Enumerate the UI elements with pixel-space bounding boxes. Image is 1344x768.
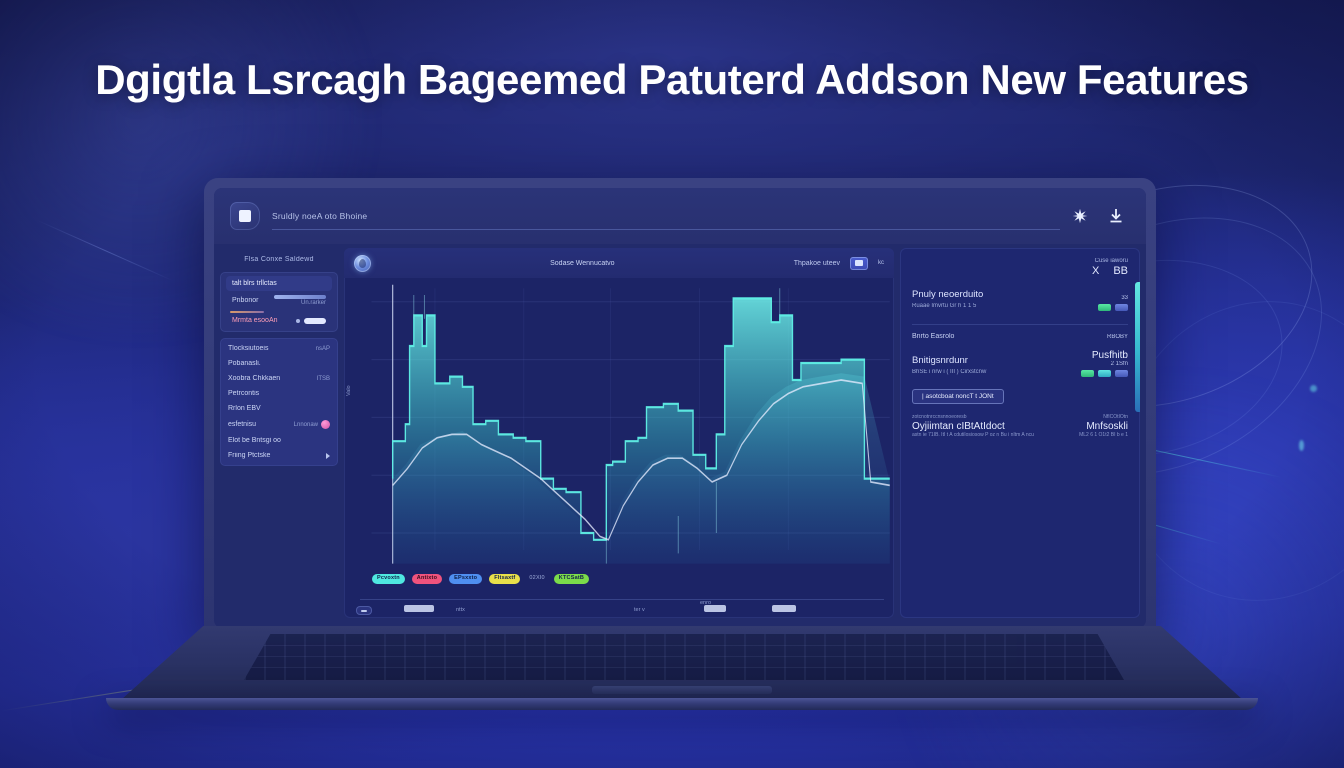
- legend-item-3[interactable]: Fltsaxtf: [489, 574, 520, 585]
- legend-item-1[interactable]: Antixto: [412, 574, 442, 585]
- right-panel-section-2: Bnitigsnrdunr BhSE i nrw i ( III ) Cirxs…: [912, 350, 1128, 377]
- sidebar-item-label: Tlocksiutoeis: [228, 345, 268, 352]
- address-bar[interactable]: Sruldly noeA oto Bhoine: [272, 203, 1060, 230]
- footer-right-lines: ML2 6 1 O1t2 BI b e 1: [1079, 432, 1128, 440]
- x-axis-tick-2: [772, 605, 796, 612]
- app-body: Flsa Conxe Saldewd talt blrs trllctas Pn…: [214, 244, 1146, 628]
- sidebar-item-label: Mrmta esooAn: [232, 317, 278, 324]
- footer-lines: astn ie 71IB. ItI t A cdutiIosiosow P oz…: [912, 432, 1034, 440]
- brand-circle-icon: [354, 255, 371, 272]
- chart-subtitle: Thpakoe uteev: [794, 260, 840, 267]
- sidebar-item-8[interactable]: esfetnisu Lnnonaw: [222, 416, 336, 433]
- sidebar-item-label: Friing Ptctske: [228, 452, 270, 459]
- footer-right-label: NfICOtIOtn: [1079, 414, 1128, 422]
- section-heading: Bnitigsnrdunr: [912, 355, 986, 366]
- page-title: Dgigtla Lsrcagh Bageemed Patuterd Addson…: [0, 56, 1344, 104]
- section-heading: Pnuly neoerduito: [912, 289, 983, 300]
- footer-right-value: Mnfsoskli: [1079, 421, 1128, 432]
- toolbar-icons: [1072, 208, 1130, 224]
- sidebar-item-tag: nsAP: [316, 346, 330, 352]
- grid-icon[interactable]: BB: [1113, 266, 1128, 277]
- sidebar-item-6[interactable]: Petrcontis: [222, 386, 336, 401]
- laptop-keyboard[interactable]: [244, 634, 1124, 680]
- right-panel-icons: X BB: [912, 266, 1128, 277]
- sidebar-card-list: Tlocksiutoeis nsAP Pobanasli. Xoobra Chk…: [220, 338, 338, 466]
- section-value: 33: [1098, 295, 1128, 301]
- chart-panel: Sodase Wennucatvo Thpakoe uteev kc: [344, 248, 894, 618]
- laptop-screen: Sruldly noeA oto Bhoine: [214, 188, 1146, 628]
- sidebar-item-tag: Un.rarker: [301, 300, 326, 306]
- sidebar-item-tag: ITSB: [317, 376, 330, 382]
- section-subtext: Ruaae Imvrtu Gr h 1 1 5: [912, 302, 983, 311]
- sidebar-item-label: talt blrs trllctas: [232, 280, 277, 287]
- status-chip-green: [1098, 304, 1111, 311]
- legend-item-2[interactable]: EPsxxto: [449, 574, 482, 585]
- right-panel-section-0: Pnuly neoerduito Ruaae Imvrtu Gr h 1 1 5…: [912, 289, 1128, 311]
- footer-overline: zotcnotnrccnsnnoeoresb: [912, 414, 1034, 422]
- keyboard-keys: [244, 634, 1124, 680]
- chart-legend: Pcvoxtn Antixto EPsxxto Fltsaxtf 02XI0 K…: [372, 574, 589, 585]
- section-chips: [1098, 304, 1128, 311]
- right-panel: Cuse iaworu X BB Pnuly neoerduito Ruaae …: [900, 248, 1140, 618]
- app-logo-icon: [230, 202, 260, 230]
- right-panel-section-1[interactable]: Bnrto Easrolo RBOBY: [912, 333, 1128, 340]
- sidebar-item-3[interactable]: Tlocksiutoeis nsAP: [222, 341, 336, 356]
- right-panel-top-label-row: Cuse iaworu: [912, 258, 1128, 264]
- x-axis-label-1: ter v: [634, 607, 645, 613]
- laptop-mockup: Sruldly noeA oto Bhoine: [112, 178, 1252, 708]
- address-text: Sruldly noeA oto Bhoine: [272, 211, 367, 221]
- chart-action-label: kc: [878, 260, 884, 266]
- area-chart-svg: [344, 278, 894, 618]
- status-chip-blue: [1115, 304, 1128, 311]
- sidebar: Flsa Conxe Saldewd talt blrs trllctas Pn…: [220, 248, 338, 618]
- laptop-screen-bezel: Sruldly noeA oto Bhoine: [204, 178, 1156, 638]
- footer-heading: Oyjiimtan cIBtAtIdoct: [912, 421, 1034, 432]
- sidebar-item-2[interactable]: Mrmta esooAn: [226, 313, 332, 328]
- sidebar-item-1[interactable]: Pnbonor Un.rarker: [226, 291, 332, 310]
- chart-action-icon[interactable]: [850, 257, 868, 270]
- sidebar-card-top: talt blrs trllctas Pnbonor Un.rarker: [220, 272, 338, 332]
- sidebar-item-label: Elot be Bntsgi oo: [228, 437, 281, 444]
- legend-item-5[interactable]: KTCSatB: [554, 574, 589, 585]
- x-axis-label-2: enro: [700, 600, 711, 606]
- section-value: RBOBY: [1107, 334, 1128, 340]
- sidebar-chip: [304, 318, 326, 324]
- right-panel-top-label: Cuse iaworu: [1095, 258, 1128, 264]
- right-panel-footer: zotcnotnrccnsnnoeoresb Oyjiimtan cIBtAtI…: [912, 414, 1128, 440]
- legend-item-4[interactable]: 02XI0: [527, 574, 546, 585]
- sidebar-item-label: Pobanasli.: [228, 360, 261, 367]
- hero-stage: Dgigtla Lsrcagh Bageemed Patuterd Addson…: [0, 0, 1344, 768]
- section-chips: [1081, 370, 1128, 377]
- chart-header: Sodase Wennucatvo Thpakoe uteev kc: [344, 248, 894, 278]
- right-panel-action-button[interactable]: | asotcboat noncT t JONt: [912, 389, 1004, 404]
- status-chip-blue: [1115, 370, 1128, 377]
- chart-title: Sodase Wennucatvo: [550, 260, 614, 267]
- right-panel-accent-bar: [1135, 282, 1140, 412]
- legend-item-0[interactable]: Pcvoxtn: [372, 574, 405, 585]
- sidebar-item-label: Pnbonor: [232, 297, 258, 304]
- laptop-base-edge: [106, 698, 1258, 710]
- download-icon[interactable]: [1108, 208, 1124, 224]
- x-axis-tick-0: [404, 605, 434, 612]
- section-value: 2 1Sfn: [1081, 361, 1128, 367]
- sidebar-item-label: Petrcontis: [228, 390, 259, 397]
- sidebar-item-5[interactable]: Xoobra Chkkaen ITSB: [222, 371, 336, 386]
- chart-plot-area: [344, 278, 894, 618]
- chevron-right-icon: [326, 453, 330, 459]
- section-heading: Bnrto Easrolo: [912, 333, 954, 340]
- sidebar-item-label: Rrlon EBV: [228, 405, 261, 412]
- hourglass-icon[interactable]: X: [1092, 266, 1099, 277]
- sidebar-item-label: Xoobra Chkkaen: [228, 375, 280, 382]
- section-subtext: BhSE i nrw i ( III ) Cirxstcnw: [912, 368, 986, 377]
- sidebar-item-9[interactable]: Elot be Bntsgi oo: [222, 433, 336, 448]
- chart-expand-button[interactable]: [356, 606, 372, 615]
- x-axis-line: [360, 599, 884, 600]
- y-axis-label: Valo: [346, 385, 352, 396]
- sidebar-item-7[interactable]: Rrlon EBV: [222, 401, 336, 416]
- sidebar-title: Flsa Conxe Saldewd: [220, 252, 338, 268]
- x-axis-tick-1: [704, 605, 726, 612]
- sidebar-item-tag: Lnnonaw: [294, 422, 318, 428]
- laptop-trackpad[interactable]: [592, 686, 772, 694]
- sidebar-notification-dot: [321, 420, 330, 429]
- x-axis-label-0: nttx: [456, 607, 465, 613]
- sidebar-progress-bar: [274, 295, 326, 299]
- star-burst-icon[interactable]: [1072, 208, 1088, 224]
- status-chip-green: [1081, 370, 1094, 377]
- sidebar-item-label: esfetnisu: [228, 421, 256, 428]
- browser-toolbar: Sruldly noeA oto Bhoine: [214, 188, 1146, 244]
- status-chip-cyan: [1098, 370, 1111, 377]
- divider-1: [912, 324, 1128, 325]
- sidebar-item-10[interactable]: Friing Ptctske: [222, 448, 336, 463]
- sidebar-item-4[interactable]: Pobanasli.: [222, 356, 336, 371]
- section-big-value: Pusfhitb: [1081, 350, 1128, 361]
- sidebar-item-0[interactable]: talt blrs trllctas: [226, 276, 332, 291]
- sidebar-status-dot: [296, 319, 300, 323]
